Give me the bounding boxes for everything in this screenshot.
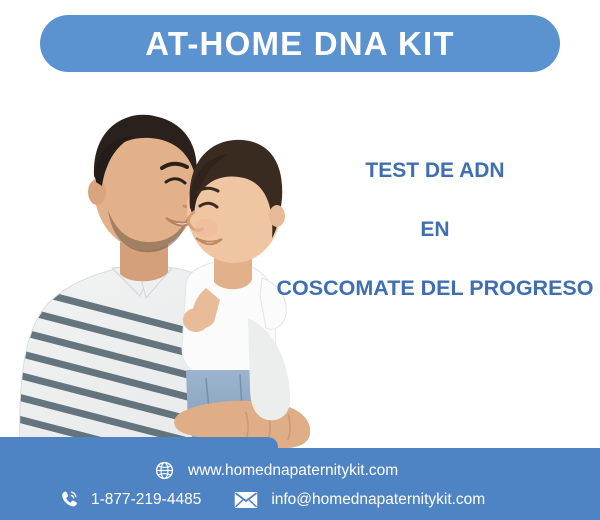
footer-contact-row: 1-877-219-4485 info@homednapaternitykit.… (58, 489, 485, 510)
footer-website-row: www.homednapaternitykit.com (155, 461, 398, 480)
phone-icon (58, 489, 79, 510)
headline-line-2: EN (255, 219, 600, 240)
headline-line-1: TEST DE ADN (255, 160, 600, 181)
globe-icon (155, 461, 174, 480)
header-banner: AT-HOME DNA KIT (40, 15, 560, 72)
headline-block: TEST DE ADN EN COSCOMATE DEL PROGRESO (255, 160, 600, 300)
footer-email-label: info@homednapaternitykit.com (271, 492, 485, 508)
headline-line-3: COSCOMATE DEL PROGRESO (255, 278, 600, 300)
footer: www.homednapaternitykit.com 1-877-219-44… (0, 437, 600, 520)
footer-content: www.homednapaternitykit.com 1-877-219-44… (0, 437, 600, 520)
footer-website-label: www.homednapaternitykit.com (188, 463, 398, 479)
poster-root: AT-HOME DNA KIT (0, 0, 600, 520)
footer-phone-label: 1-877-219-4485 (91, 492, 201, 508)
footer-website-item[interactable]: www.homednapaternitykit.com (155, 461, 398, 480)
envelope-icon (234, 491, 258, 509)
footer-email-item[interactable]: info@homednapaternitykit.com (234, 491, 485, 509)
footer-phone-item[interactable]: 1-877-219-4485 (58, 489, 201, 510)
page-title: AT-HOME DNA KIT (145, 27, 454, 60)
